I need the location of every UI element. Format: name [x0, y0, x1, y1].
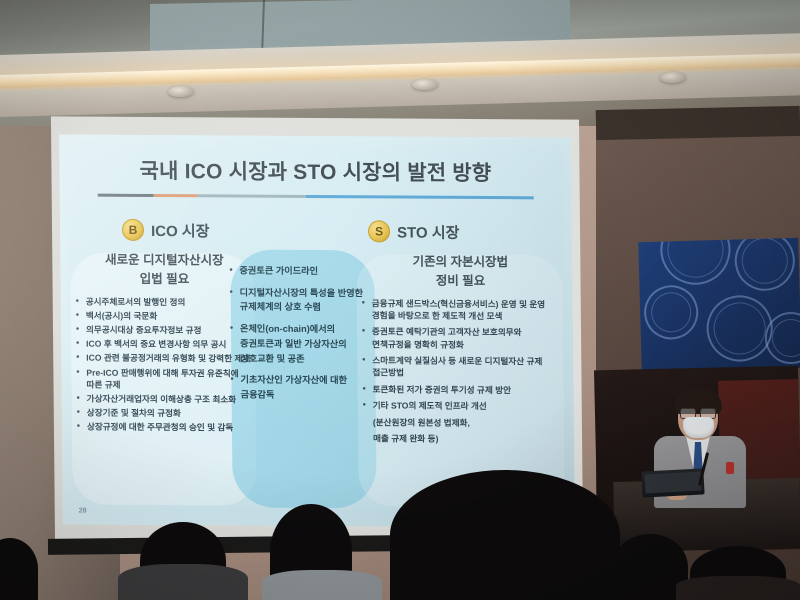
audience-shoulders	[118, 564, 248, 600]
list-item-continuation: (분산원장의 원본성 법제화,	[362, 416, 562, 430]
bitcoin-coin-icon: B	[122, 219, 144, 241]
speaker-lapel-badge	[726, 462, 734, 474]
crypto-banner	[638, 238, 800, 372]
glasses-icon	[680, 408, 716, 417]
audience-shoulders	[676, 576, 800, 600]
header-sto-label: STO 시장	[397, 221, 460, 242]
list-item: 온체인(on-chain)에서의 증권토큰과 일반 가상자산의 상호교환 및 공…	[229, 322, 377, 367]
audience-shoulders	[262, 570, 382, 600]
list-item: 상장규정에 대한 주무관청의 승인 및 감독	[76, 421, 256, 434]
list-item: 증권토큰 가이드라인	[228, 263, 376, 279]
list-item: 금융규제 샌드박스(혁신금융서비스) 운영 및 운영 경험을 바탕으로 한 제도…	[361, 297, 561, 323]
presentation-slide: 국내 ICO 시장과 STO 시장의 발전 방향 B ICO 시장 S STO …	[59, 134, 575, 527]
middle-column-title	[228, 251, 376, 252]
speaker-person	[640, 388, 760, 518]
security-token-coin-icon: S	[368, 220, 390, 242]
column-middle: 증권토큰 가이드라인 디지털자산시장의 특성을 반영한 규제체계의 상호 수렴 …	[228, 251, 378, 410]
list-item: 기초자산인 가상자산에 대한 금융감독	[229, 373, 377, 403]
list-item: 토큰화된 저가 증권의 투기성 규제 방안	[362, 383, 562, 397]
header-ico: B ICO 시장	[122, 219, 210, 242]
coin-graphic-icon	[638, 277, 707, 348]
right-column-bullets: 금융규제 샌드박스(혁신금융서비스) 운영 및 운영 경험을 바탕으로 한 제도…	[361, 297, 562, 446]
laptop	[641, 468, 704, 497]
right-column-title: 기존의 자본시장법정비 필요	[360, 252, 560, 291]
face-mask-icon	[683, 417, 714, 438]
title-underline-rule	[98, 194, 534, 200]
slide-page-number: 28	[79, 508, 87, 515]
column-right: 기존의 자본시장법정비 필요 금융규제 샌드박스(혁신금융서비스) 운영 및 운…	[360, 252, 562, 449]
list-item: 증권토큰 예탁기관의 고객자산 보호의무와 면책규정을 명확히 규정화	[361, 326, 561, 352]
header-sto: S STO 시장	[368, 220, 460, 243]
section-headers: B ICO 시장 S STO 시장	[60, 218, 572, 249]
upper-dark-band	[596, 106, 800, 140]
audience-head	[390, 470, 620, 600]
list-item: 디지털자산시장의 특성을 반영한 규제체계의 상호 수렴	[229, 285, 377, 315]
header-ico-label: ICO 시장	[151, 219, 210, 240]
list-item: 스마트계약 실질심사 등 새로운 디지털자산 규제 접근방법	[361, 354, 561, 380]
laptop-screen	[645, 472, 702, 494]
conference-photo-scene: 국내 ICO 시장과 STO 시장의 발전 방향 B ICO 시장 S STO …	[0, 0, 800, 600]
list-item-continuation: 매출 규제 완화 등)	[362, 432, 562, 446]
slide-title: 국내 ICO 시장과 STO 시장의 발전 방향	[59, 154, 571, 187]
coin-graphic-icon	[729, 238, 800, 297]
list-item: 기타 STO의 제도적 인프라 개선	[362, 399, 562, 413]
middle-column-bullets: 증권토큰 가이드라인 디지털자산시장의 특성을 반영한 규제체계의 상호 수렴 …	[228, 263, 377, 403]
